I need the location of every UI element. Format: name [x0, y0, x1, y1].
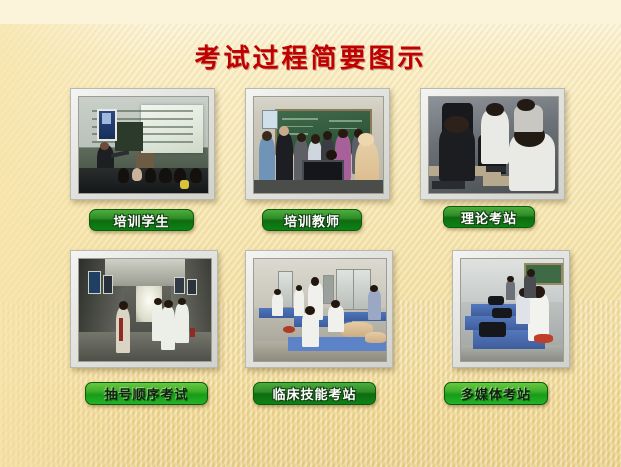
photo-inner-border: [78, 258, 212, 362]
photo-frame-training-teachers: [245, 88, 390, 200]
caption-training-teachers: 培训教师: [262, 209, 362, 231]
photo-frame-clinical-skills-station: [245, 250, 393, 368]
caption-training-students: 培训学生: [89, 209, 194, 231]
caption-theory-station: 理论考站: [443, 206, 535, 228]
caption-draw-number-exam: 抽号顺序考试: [85, 382, 208, 405]
photo-inner-border: [460, 258, 564, 362]
photo-inner-border: [253, 96, 384, 194]
presentation-slide: 考试过程简要图示: [0, 0, 621, 467]
photo-image-draw-number-exam: [79, 259, 211, 361]
slide-title: 考试过程简要图示: [0, 38, 621, 75]
photo-image-training-students: [79, 97, 208, 193]
photo-frame-multimedia-station: [452, 250, 570, 368]
photo-image-multimedia-station: [461, 259, 563, 361]
photo-frame-theory-station: [420, 88, 565, 200]
photo-image-training-teachers: [254, 97, 383, 193]
photo-image-clinical-skills-station: [254, 259, 386, 361]
caption-clinical-skills-station: 临床技能考站: [253, 382, 376, 405]
photo-inner-border: [428, 96, 559, 194]
photo-frame-draw-number-exam: [70, 250, 218, 368]
caption-multimedia-station: 多媒体考站: [444, 382, 548, 405]
photo-inner-border: [78, 96, 209, 194]
photo-frame-training-students: [70, 88, 215, 200]
photo-inner-border: [253, 258, 387, 362]
photo-image-theory-station: [429, 97, 558, 193]
background-top-band: [0, 0, 621, 24]
